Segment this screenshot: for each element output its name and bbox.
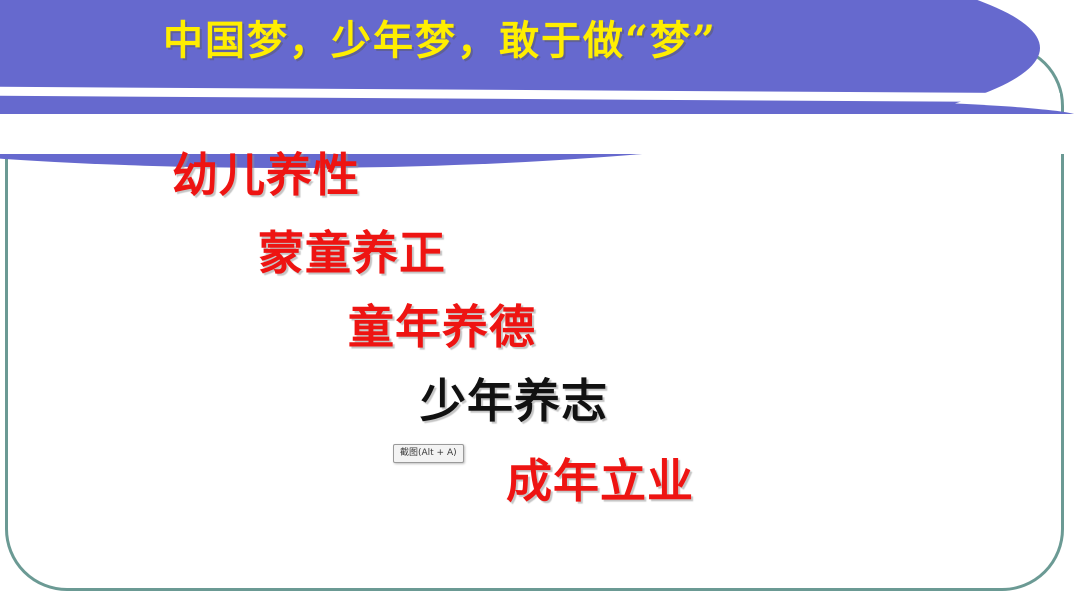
body-line-5: 成年立业 (506, 458, 694, 504)
body-line-4: 少年养志 (420, 378, 608, 424)
body-line-2: 蒙童养正 (258, 230, 446, 276)
body-text-cascade: 幼儿养性 蒙童养正 童年养德 少年养志 成年立业 (0, 140, 1080, 540)
slide-canvas: 中国梦，少年梦，敢于做“梦” 幼儿养性 蒙童养正 童年养德 少年养志 成年立业 … (0, 0, 1080, 603)
body-line-1: 幼儿养性 (172, 152, 360, 198)
slide-title: 中国梦，少年梦，敢于做“梦” (0, 16, 880, 66)
body-line-3: 童年养德 (348, 304, 536, 350)
screenshot-tool-button[interactable]: 截图(Alt + A) (393, 444, 464, 463)
